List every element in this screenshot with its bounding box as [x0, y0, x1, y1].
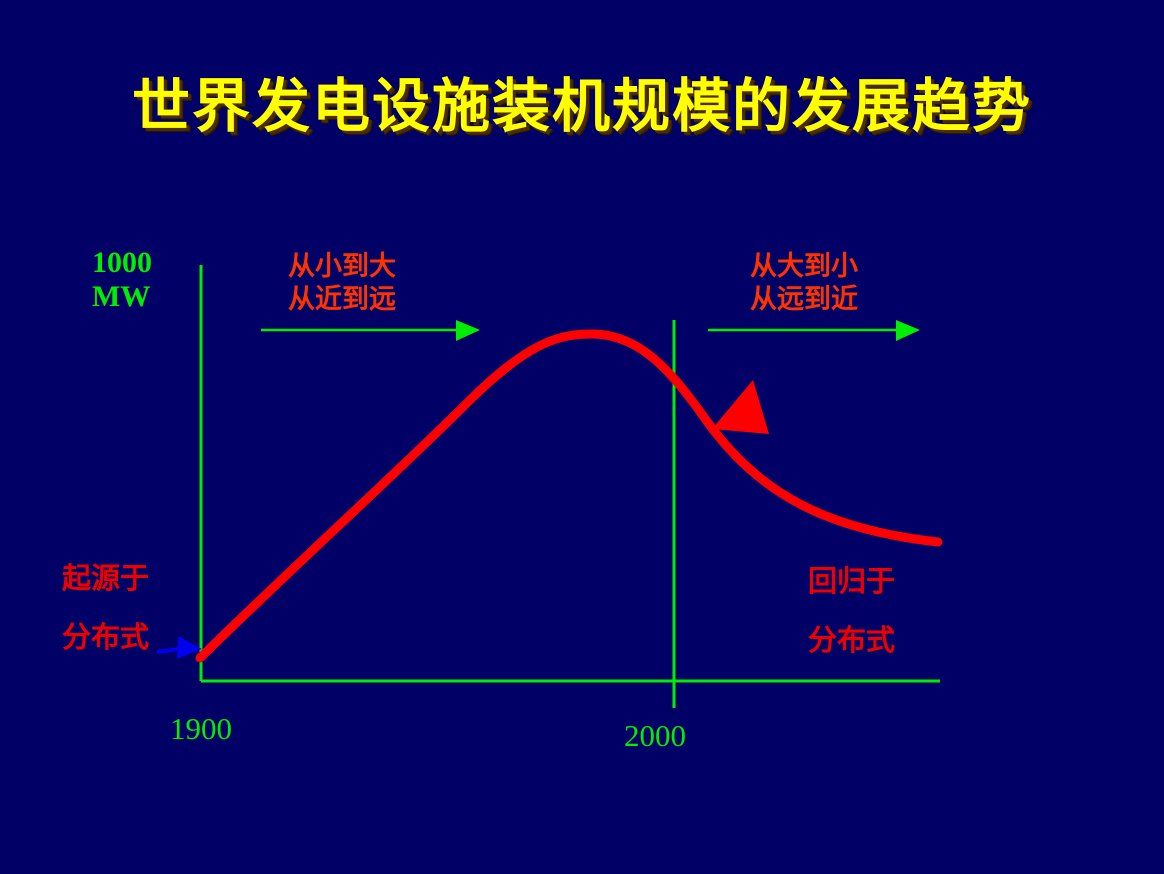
left-phase-note-line2: 从近到远 [288, 283, 396, 316]
y-axis-unit-label: 1000 MW [92, 246, 152, 313]
right-phase-arrow [708, 320, 920, 341]
x-tick-label-1900: 1900 [170, 711, 232, 747]
return-endpoint-line2: 分布式 [808, 627, 895, 656]
left-phase-arrow [261, 320, 480, 341]
return-endpoint-note: 回归于 分布式 [808, 568, 895, 656]
decline-arrowhead-icon [712, 380, 769, 434]
right-phase-note-line2: 从远到近 [750, 283, 858, 316]
y-axis-unit-value: 1000 [92, 246, 152, 280]
return-endpoint-line1: 回归于 [808, 566, 895, 598]
slide-canvas: 世界发电设施装机规模的发展趋势 1000 MW [0, 0, 1164, 874]
origin-endpoint-line2: 分布式 [62, 624, 149, 653]
left-phase-note: 从小到大 从近到远 [288, 250, 396, 316]
origin-endpoint-note: 起源于 分布式 [62, 565, 149, 653]
right-phase-note: 从大到小 从远到近 [750, 250, 858, 316]
y-axis-unit-suffix: MW [92, 280, 152, 314]
x-tick-label-2000: 2000 [624, 718, 686, 754]
right-phase-note-line1: 从大到小 [750, 250, 858, 283]
origin-endpoint-line1: 起源于 [62, 563, 149, 595]
left-phase-note-line1: 从小到大 [288, 250, 396, 283]
origin-pointer-icon [157, 636, 202, 659]
